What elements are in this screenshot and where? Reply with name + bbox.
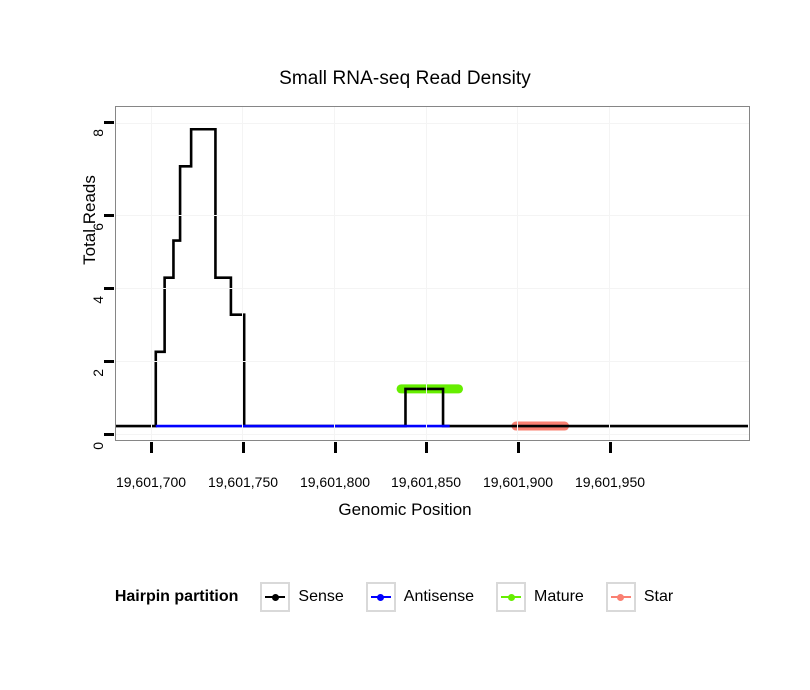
legend-label-sense: Sense	[298, 588, 343, 606]
series-sense-line	[116, 129, 748, 426]
x-tick-mark-2	[242, 442, 245, 453]
y-tick-label-0: 8	[90, 129, 106, 169]
gridline-horizontal	[116, 361, 749, 362]
chart-title: Small RNA-seq Read Density	[0, 68, 810, 90]
y-tick-label-2: 6	[90, 223, 106, 263]
chart-legend: Hairpin partition Sense Antisense Mature…	[0, 582, 810, 612]
x-tick-mark-3	[334, 442, 337, 453]
y-tick-label-6: 2	[90, 369, 106, 409]
x-tick-mark-6	[609, 442, 612, 453]
gridline-horizontal	[116, 288, 749, 289]
legend-entry-mature[interactable]: Mature	[496, 582, 598, 612]
legend-entry-sense[interactable]: Sense	[260, 582, 357, 612]
gridline-horizontal	[116, 123, 749, 124]
legend-key-sense-icon	[260, 582, 290, 612]
y-tick-mark-4	[104, 287, 114, 290]
legend-key-mature-icon	[496, 582, 526, 612]
gridline-vertical	[426, 107, 427, 440]
chart-plot-area	[116, 107, 748, 439]
y-tick-mark-6	[104, 214, 114, 217]
legend-entry-star[interactable]: Star	[606, 582, 687, 612]
gridline-vertical	[151, 107, 152, 440]
gridline-vertical	[334, 107, 335, 440]
legend-label-mature: Mature	[534, 588, 584, 606]
legend-key-antisense-icon	[366, 582, 396, 612]
legend-title: Hairpin partition	[115, 588, 239, 606]
legend-label-antisense: Antisense	[404, 588, 474, 606]
x-axis-title: Genomic Position	[0, 500, 810, 520]
gridline-horizontal	[116, 434, 749, 435]
gridline-vertical	[517, 107, 518, 440]
plot-panel	[115, 106, 750, 441]
y-tick-mark-8	[104, 121, 114, 124]
legend-entry-antisense[interactable]: Antisense	[366, 582, 488, 612]
legend-label-star: Star	[644, 588, 673, 606]
x-tick-label-6: 19,601,950	[550, 474, 670, 490]
y-tick-mark-2	[104, 360, 114, 363]
y-tick-label-4: 4	[90, 296, 106, 336]
gridline-vertical	[242, 107, 243, 440]
x-tick-mark-5	[517, 442, 520, 453]
gridline-vertical	[609, 107, 610, 440]
legend-key-star-icon	[606, 582, 636, 612]
y-tick-mark-0	[104, 433, 114, 436]
gridline-horizontal	[116, 215, 749, 216]
x-tick-mark-4	[425, 442, 428, 453]
chart-figure: Small RNA-seq Read Density Total Reads 0…	[0, 0, 810, 690]
x-tick-mark-1	[150, 442, 153, 453]
